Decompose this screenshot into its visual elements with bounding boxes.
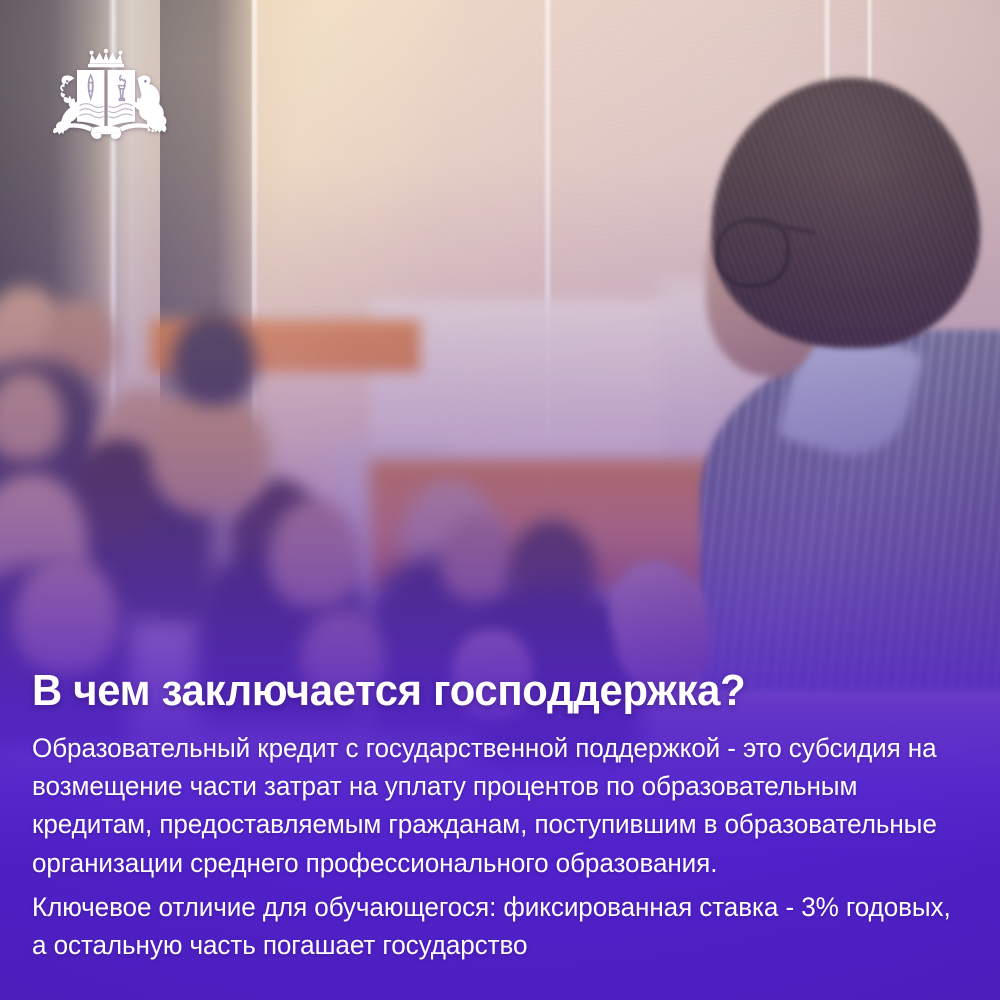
body-paragraph-1: Образовательный кредит с государственной…: [32, 729, 956, 882]
body-paragraph-2: Ключевое отличие для обучающегося: фикси…: [32, 888, 956, 964]
page-title: В чем заключается господдержка?: [32, 668, 923, 715]
ribbon-base: [63, 123, 149, 139]
text-block: В чем заключается господдержка? Образова…: [32, 668, 970, 964]
poster: В чем заключается господдержка? Образова…: [0, 0, 1000, 1000]
coat-of-arms-icon: [33, 42, 179, 162]
